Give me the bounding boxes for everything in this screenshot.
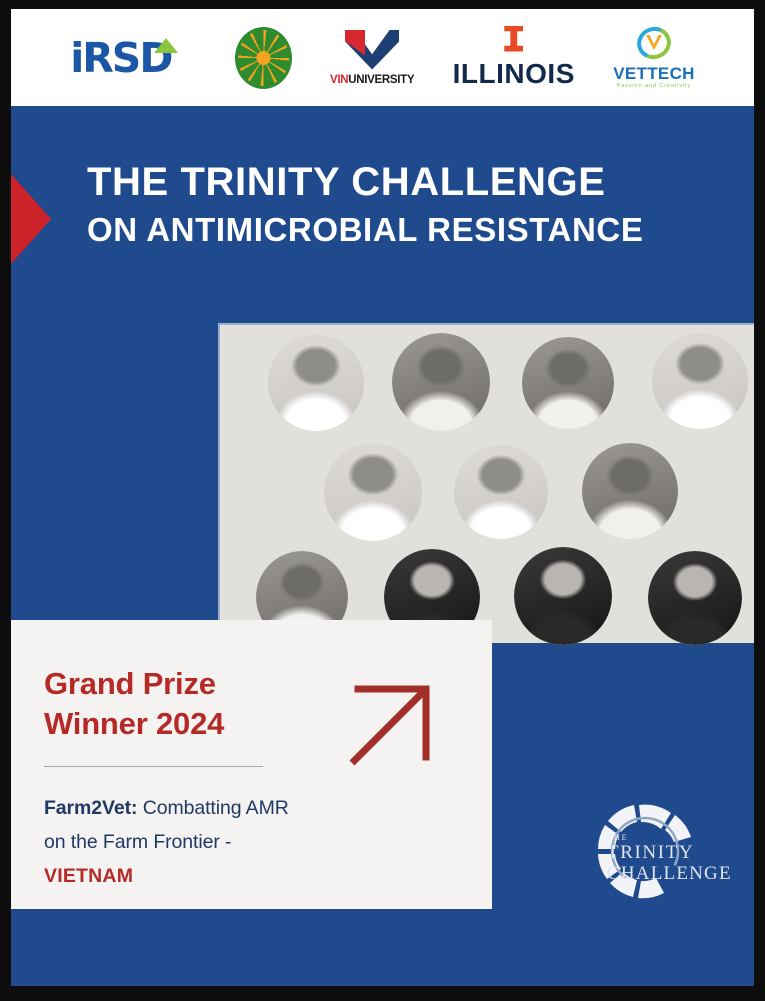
project-name: Farm2Vet:	[44, 797, 137, 819]
card-divider	[44, 766, 263, 767]
portrait-photo	[582, 443, 678, 539]
portrait-photo	[652, 333, 748, 429]
vettech-tagline: Passion and Creativity	[617, 83, 692, 89]
portrait-7	[582, 443, 678, 539]
vettech-wordmark: VETTECH	[613, 65, 694, 82]
project-country: VIETNAM	[44, 859, 492, 893]
trinity-challenge-wordmark: THE TRINITY CHALLENGE	[607, 833, 729, 884]
logo-illinois: ILLINOIS	[453, 26, 575, 90]
team-photo-panel	[218, 323, 754, 643]
trinity-logo-the: THE	[607, 833, 729, 842]
arrow-up-right-icon	[346, 677, 438, 769]
illinois-block-i-icon	[504, 26, 523, 52]
headline-line1: THE TRINITY CHALLENGE	[87, 159, 727, 205]
logo-vnua	[235, 27, 292, 89]
poster-root: iRSD VINUNIVERSITY ILLINOIS	[0, 0, 765, 1001]
project-desc-line1: Combatting AMR	[137, 797, 288, 819]
red-triangle-accent-icon	[11, 174, 51, 264]
portrait-11	[648, 551, 742, 645]
portrait-photo	[268, 335, 364, 431]
vinuniversity-wordmark: VINUNIVERSITY	[330, 74, 414, 86]
portrait-photo	[392, 333, 490, 431]
headline-block: THE TRINITY CHALLENGE ON ANTIMICROBIAL R…	[87, 159, 727, 251]
vin-wordmark-part2: UNIVERSITY	[348, 74, 414, 86]
project-title-line1: Farm2Vet: Combatting AMR	[44, 791, 492, 825]
irsd-logo-icon: iRSD	[70, 35, 196, 81]
portrait-5	[324, 443, 422, 541]
portrait-1	[268, 335, 364, 431]
portrait-photo	[648, 551, 742, 645]
portrait-2	[392, 333, 490, 431]
headline-line2: ON ANTIMICROBIAL RESISTANCE	[87, 209, 727, 251]
partner-logo-bar: iRSD VINUNIVERSITY ILLINOIS	[11, 9, 754, 106]
trinity-logo-line1: TRINITY	[607, 842, 729, 863]
portrait-photo	[514, 547, 612, 645]
vinuniversity-v-icon	[345, 30, 399, 70]
trinity-logo-line2: CHALLENGE	[607, 863, 729, 884]
logo-vettech: VETTECH Passion and Creativity	[613, 26, 694, 89]
logo-irsd: iRSD	[70, 35, 196, 81]
portrait-3	[522, 337, 614, 429]
vin-wordmark-part1: VIN	[330, 74, 348, 86]
portrait-photo	[522, 337, 614, 429]
logo-vinuniversity: VINUNIVERSITY	[330, 30, 414, 86]
irsd-green-triangle-icon	[154, 38, 178, 53]
vettech-ring-shape	[633, 22, 676, 64]
portrait-photo	[324, 443, 422, 541]
vnua-seal-icon	[235, 27, 292, 89]
trinity-challenge-logo: THE TRINITY CHALLENGE	[583, 795, 733, 913]
illinois-wordmark: ILLINOIS	[453, 58, 575, 90]
portrait-photo	[454, 445, 548, 539]
portrait-10	[514, 547, 612, 645]
portrait-6	[454, 445, 548, 539]
project-title-line2: on the Farm Frontier -	[44, 825, 492, 859]
vettech-ring-icon	[634, 26, 674, 62]
portrait-4	[652, 333, 748, 429]
poster-canvas: iRSD VINUNIVERSITY ILLINOIS	[11, 9, 754, 986]
